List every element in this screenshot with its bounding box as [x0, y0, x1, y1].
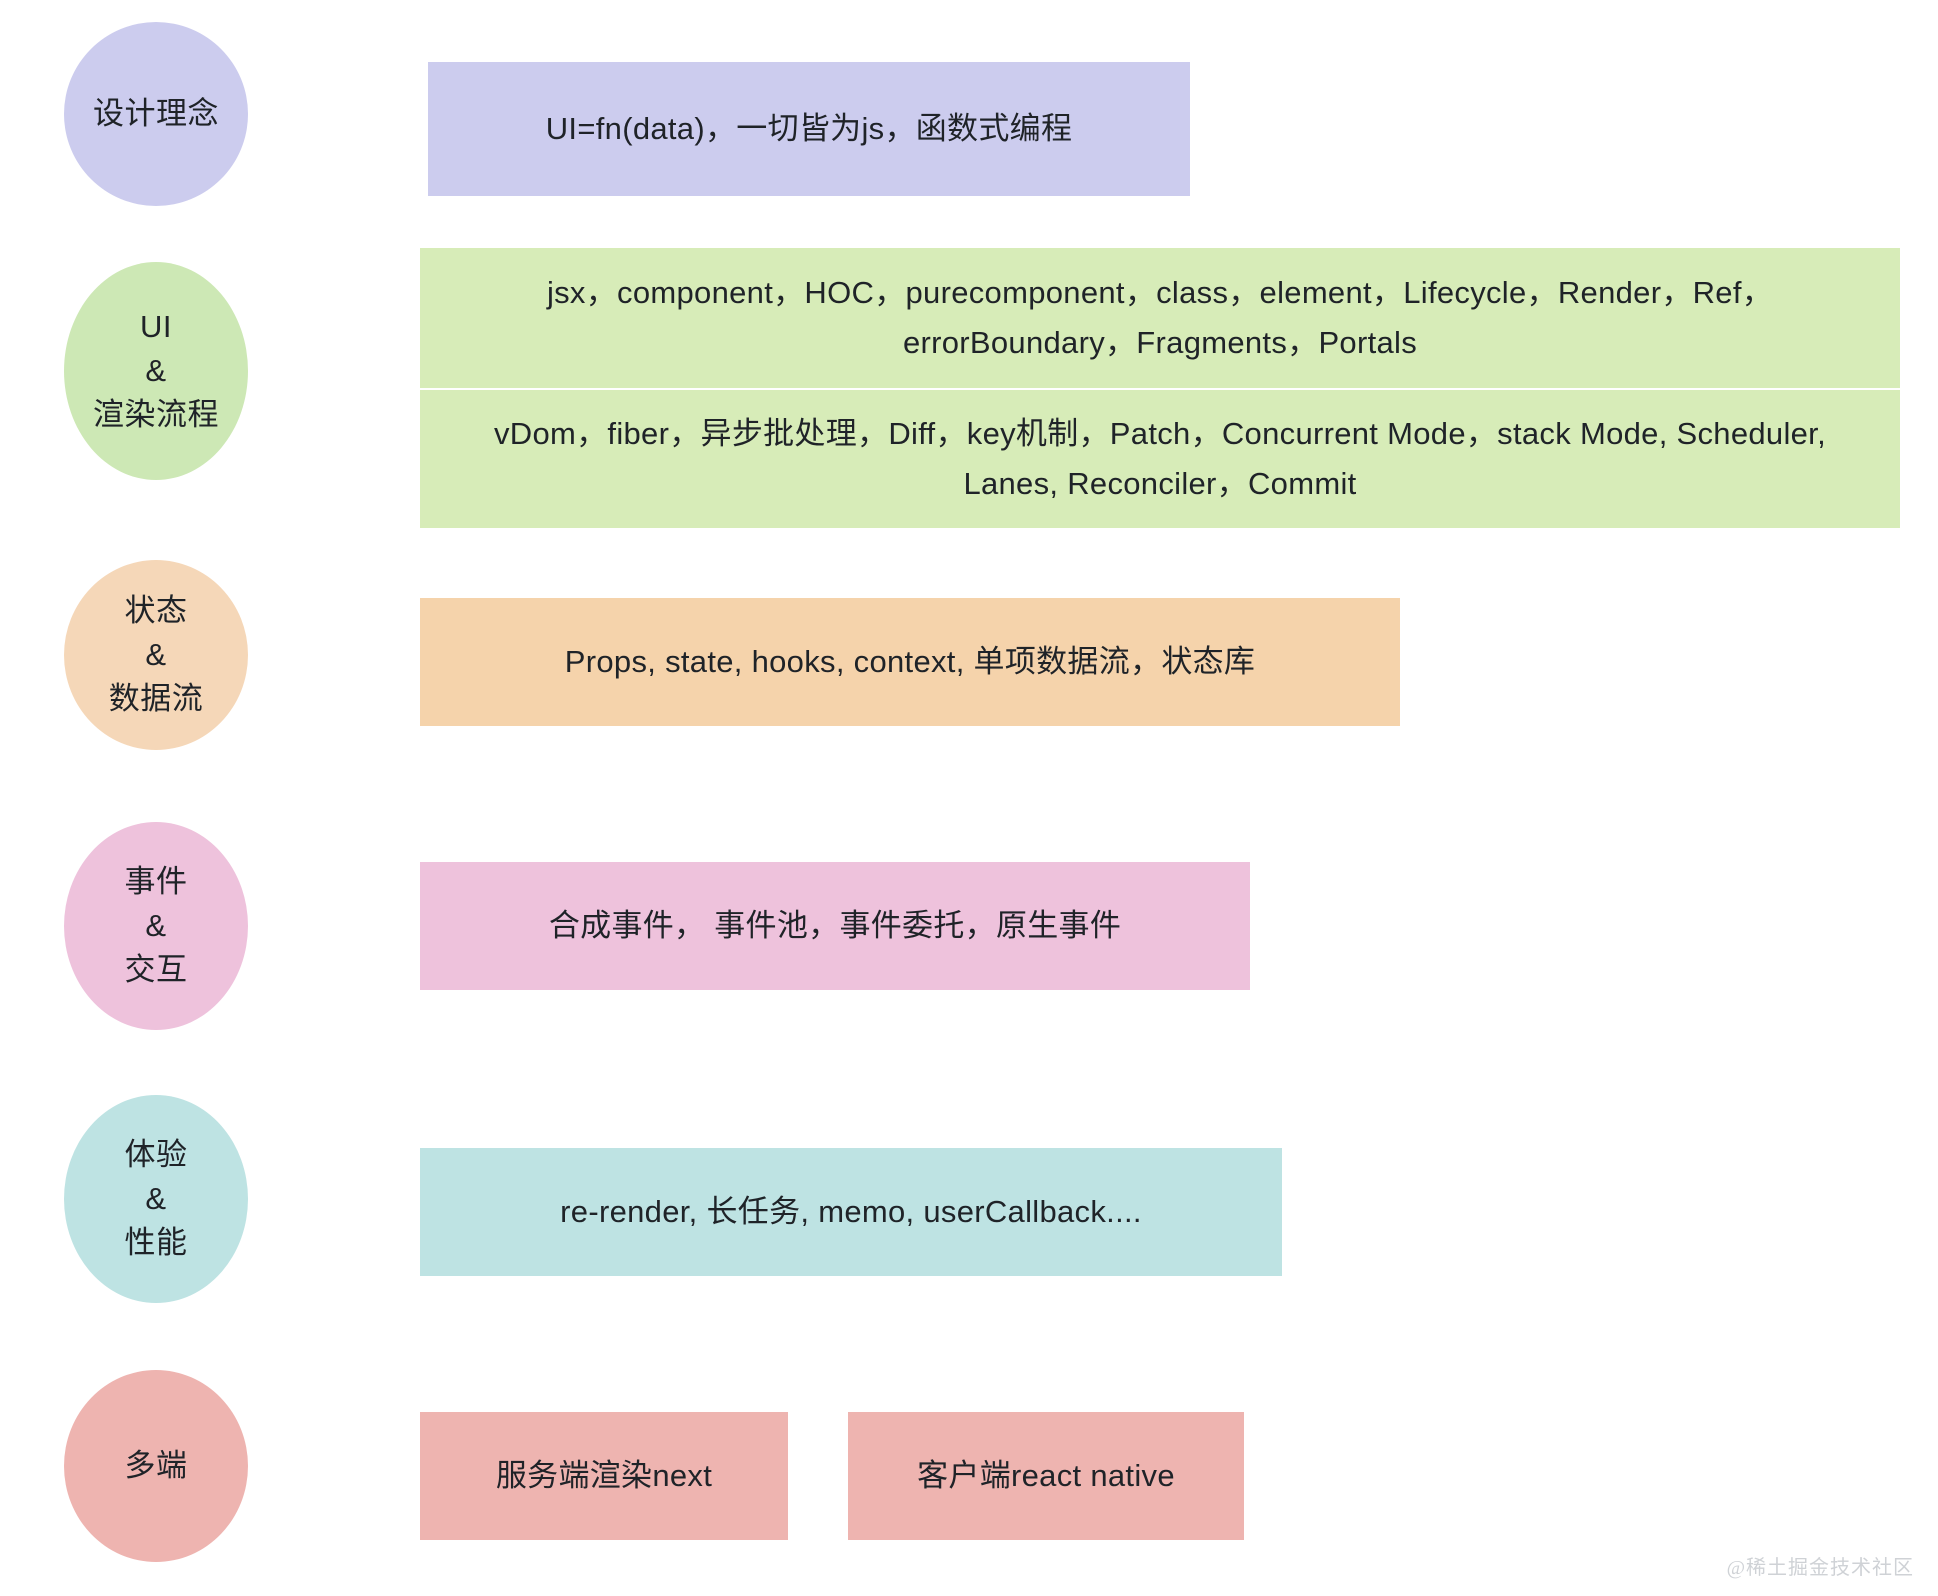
- node-multi-platform[interactable]: 多端: [64, 1370, 248, 1562]
- box-client-react-native[interactable]: 客户端react native: [848, 1412, 1244, 1540]
- box-server-side-rendering[interactable]: 服务端渲染next: [420, 1412, 788, 1540]
- watermark: @稀土掘金技术社区: [1727, 1551, 1914, 1580]
- box-render-pipeline[interactable]: vDom，fiber，异步批处理，Diff，key机制，Patch，Concur…: [420, 390, 1900, 528]
- node-ui-render-flow[interactable]: UI & 渲染流程: [64, 262, 248, 480]
- box-ui-components[interactable]: jsx，component，HOC，purecomponent，class，el…: [420, 248, 1900, 388]
- node-design-philosophy[interactable]: 设计理念: [64, 22, 248, 206]
- box-design-philosophy-content[interactable]: UI=fn(data)，一切皆为js，函数式编程: [428, 62, 1190, 196]
- node-experience-performance[interactable]: 体验 & 性能: [64, 1095, 248, 1303]
- box-state-dataflow-content[interactable]: Props, state, hooks, context, 单项数据流，状态库: [420, 598, 1400, 726]
- box-event-interaction-content[interactable]: 合成事件， 事件池，事件委托，原生事件: [420, 862, 1250, 990]
- node-state-dataflow[interactable]: 状态 & 数据流: [64, 560, 248, 750]
- node-event-interaction[interactable]: 事件 & 交互: [64, 822, 248, 1030]
- box-experience-performance-content[interactable]: re-render, 长任务, memo, userCallback....: [420, 1148, 1282, 1276]
- diagram-canvas: 设计理念 UI=fn(data)，一切皆为js，函数式编程 UI & 渲染流程 …: [0, 0, 1938, 1596]
- box-group-ui-render-flow: jsx，component，HOC，purecomponent，class，el…: [420, 248, 1900, 528]
